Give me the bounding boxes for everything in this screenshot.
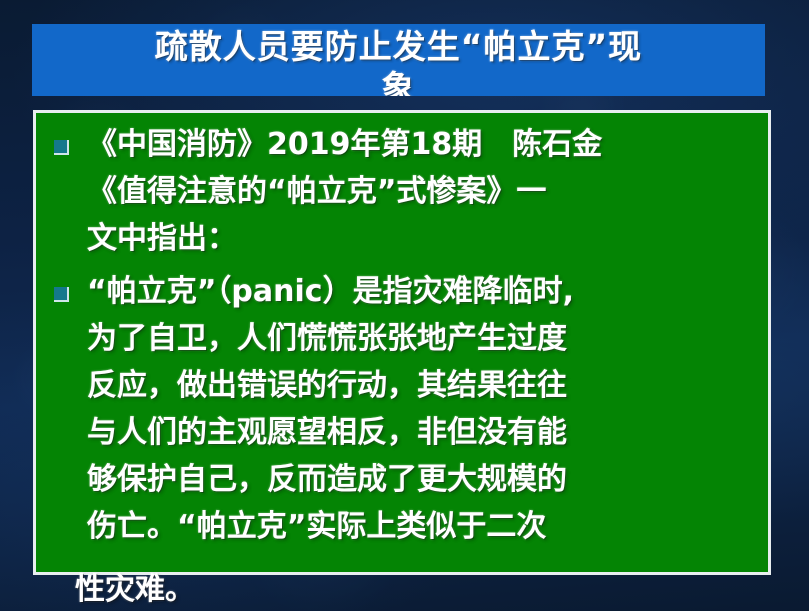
- slide-title-bar[interactable]: 疏散人员要防止发生“帕立克”现 象: [32, 24, 765, 96]
- slide-title-line-2: 象: [382, 67, 416, 96]
- bullet-item-2-body: “帕立克”（panic）是指灾难降临时, 为了自卫，人们慌慌张张地产生过度 反应…: [87, 268, 758, 550]
- bullet-1-line-1: 《中国消防》2019年第18期 陈石金: [87, 121, 758, 168]
- bullet-2-line-3: 反应，做出错误的行动，其结果往往: [87, 362, 758, 409]
- bullet-2-line-2: 为了自卫，人们慌慌张张地产生过度: [87, 315, 758, 362]
- slide-title-line-1: 疏散人员要防止发生“帕立克”现: [155, 26, 642, 67]
- bullet-item-1[interactable]: 《中国消防》2019年第18期 陈石金 《值得注意的“帕立克”式惨案》一 文中指…: [46, 121, 758, 262]
- bullet-2-line-1: “帕立克”（panic）是指灾难降临时,: [87, 268, 758, 315]
- bullet-item-2[interactable]: “帕立克”（panic）是指灾难降临时, 为了自卫，人们慌慌张张地产生过度 反应…: [46, 268, 758, 550]
- bullet-1-line-2: 《值得注意的“帕立克”式惨案》一: [87, 168, 758, 215]
- bullet-1-line-3: 文中指出：: [87, 215, 758, 262]
- content-overflow-line: 性灾难。: [75, 566, 195, 611]
- slide-content-box[interactable]: 《中国消防》2019年第18期 陈石金 《值得注意的“帕立克”式惨案》一 文中指…: [33, 110, 771, 575]
- square-bullet-icon: [54, 287, 69, 302]
- presentation-slide: 疏散人员要防止发生“帕立克”现 象 《中国消防》2019年第18期 陈石金 《值…: [0, 0, 809, 611]
- bullet-item-1-body: 《中国消防》2019年第18期 陈石金 《值得注意的“帕立克”式惨案》一 文中指…: [87, 121, 758, 262]
- square-bullet-icon: [54, 140, 69, 155]
- bullet-2-line-6: 伤亡。“帕立克”实际上类似于二次: [87, 503, 758, 550]
- bullet-2-line-5: 够保护自己，反而造成了更大规模的: [87, 456, 758, 503]
- bullet-2-line-4: 与人们的主观愿望相反，非但没有能: [87, 409, 758, 456]
